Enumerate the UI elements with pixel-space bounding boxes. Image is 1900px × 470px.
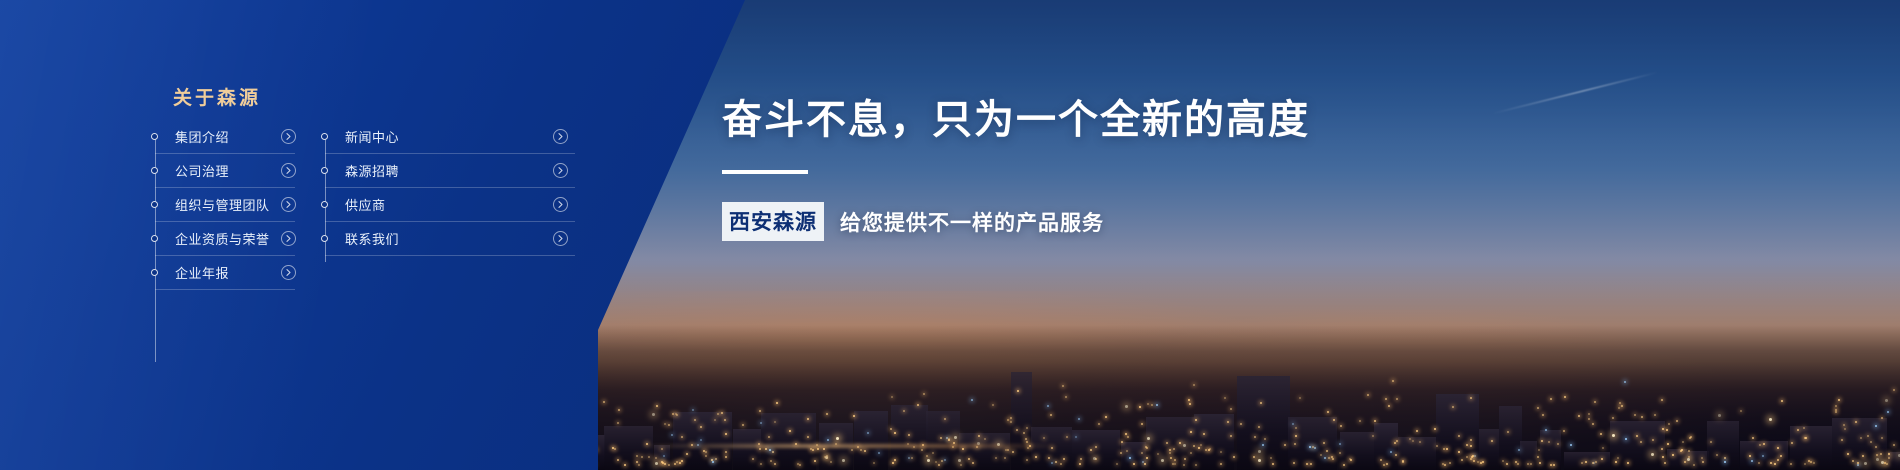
nav-item-label: 新闻中心 xyxy=(345,127,399,146)
nav-item-label: 组织与管理团队 xyxy=(175,195,270,214)
nav-item-1-4[interactable]: 企业资质与荣誉 xyxy=(155,222,295,256)
chevron-right-icon[interactable] xyxy=(553,129,568,144)
nav-item-label: 公司治理 xyxy=(175,161,229,180)
timeline-dot xyxy=(151,167,158,174)
timeline-dot xyxy=(321,201,328,208)
chevron-right-icon[interactable] xyxy=(553,197,568,212)
timeline-dot xyxy=(321,167,328,174)
nav-item-2-2[interactable]: 森源招聘 xyxy=(325,154,575,188)
chevron-right-icon[interactable] xyxy=(281,197,296,212)
nav-item-2-3[interactable]: 供应商 xyxy=(325,188,575,222)
chevron-right-icon[interactable] xyxy=(281,231,296,246)
about-banner: 关于森源 集团介绍公司治理组织与管理团队企业资质与荣誉企业年报 新闻中心森源招聘… xyxy=(0,0,1900,470)
chevron-right-icon[interactable] xyxy=(553,231,568,246)
section-title: 关于森源 xyxy=(173,83,261,110)
nav-item-1-1[interactable]: 集团介绍 xyxy=(155,120,295,154)
timeline-dot xyxy=(151,133,158,140)
road-light-streak xyxy=(640,444,1060,448)
nav-item-1-3[interactable]: 组织与管理团队 xyxy=(155,188,295,222)
nav-item-1-5[interactable]: 企业年报 xyxy=(155,256,295,290)
hero-subtitle-row: 西安森源 给您提供不一样的产品服务 xyxy=(722,202,1622,241)
nav-item-label: 供应商 xyxy=(345,195,386,214)
nav-item-label: 企业年报 xyxy=(175,263,229,282)
hero-brand-badge: 西安森源 xyxy=(722,202,824,241)
hero-title: 奋斗不息，只为一个全新的高度 xyxy=(722,96,1622,144)
nav-item-label: 联系我们 xyxy=(345,229,399,248)
nav-column-2: 新闻中心森源招聘供应商联系我们 xyxy=(325,120,575,256)
hero-divider xyxy=(722,170,808,174)
nav-item-2-1[interactable]: 新闻中心 xyxy=(325,120,575,154)
nav-item-label: 森源招聘 xyxy=(345,161,399,180)
nav-item-2-4[interactable]: 联系我们 xyxy=(325,222,575,256)
chevron-right-icon[interactable] xyxy=(553,163,568,178)
hero-block: 奋斗不息，只为一个全新的高度 西安森源 给您提供不一样的产品服务 xyxy=(722,96,1622,241)
timeline-dot xyxy=(151,235,158,242)
chevron-right-icon[interactable] xyxy=(281,129,296,144)
nav-column-1: 集团介绍公司治理组织与管理团队企业资质与荣誉企业年报 xyxy=(155,120,295,290)
timeline-dot xyxy=(321,133,328,140)
timeline-dot xyxy=(151,201,158,208)
timeline-dot xyxy=(151,269,158,276)
chevron-right-icon[interactable] xyxy=(281,265,296,280)
chevron-right-icon[interactable] xyxy=(281,163,296,178)
nav-item-label: 集团介绍 xyxy=(175,127,229,146)
timeline-dot xyxy=(321,235,328,242)
nav-item-1-2[interactable]: 公司治理 xyxy=(155,154,295,188)
hero-subtitle: 给您提供不一样的产品服务 xyxy=(840,207,1104,237)
nav-item-label: 企业资质与荣誉 xyxy=(175,229,270,248)
